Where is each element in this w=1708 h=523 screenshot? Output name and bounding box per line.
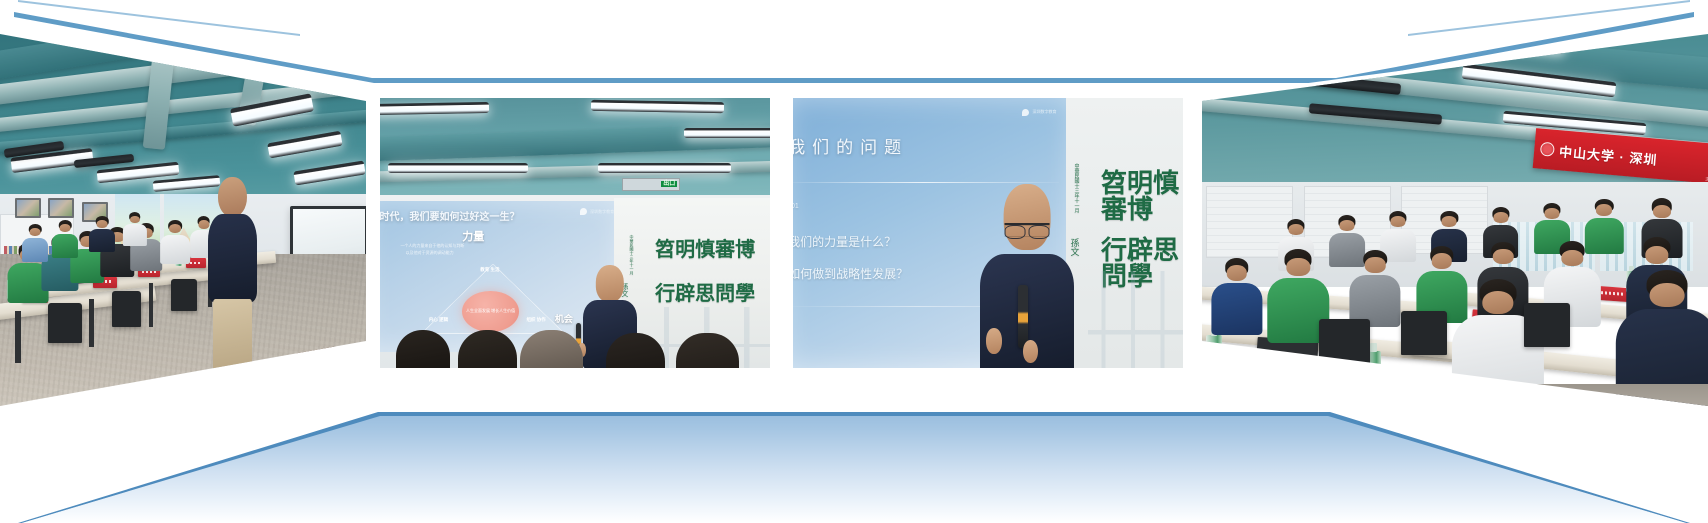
table-leg (15, 311, 21, 364)
torso (89, 229, 115, 252)
head (1544, 208, 1559, 219)
photo-frame-inner: 中山大学 · 深圳 企业家培训 主办单位：深圳 (1196, 12, 1708, 416)
chair (1524, 303, 1570, 347)
slide-question-2: 如何做到战略性发展？ (793, 265, 908, 282)
bullet-marker: 01 (793, 203, 799, 210)
university-seal-icon (1540, 142, 1555, 157)
slide-title: 的时代，我们要如何过好这一生？ (380, 208, 520, 223)
table-leg (149, 283, 153, 327)
head (1645, 246, 1668, 264)
photo-panel-classroom-wide[interactable] (0, 12, 372, 416)
slide-subnote: 一个人的力量来自于他的认知与判断 (400, 243, 464, 249)
gallery-banner: 出口 的时代，我们要如何过好这一生？ 深圳数字教育 力量 一个人的力量来自于他的… (0, 0, 1708, 523)
leaf-glyph (1022, 109, 1029, 116)
attendee (160, 222, 190, 264)
torso (123, 224, 147, 246)
wall-art (48, 198, 74, 218)
photo-frame-inner: 出口 的时代，我们要如何过好这一生？ 深圳数字教育 力量 一个人的力量来自于他的… (380, 98, 770, 368)
exit-sign-label: 出口 (661, 181, 677, 187)
head (1442, 216, 1457, 227)
head (1653, 205, 1671, 218)
chair (171, 279, 197, 311)
presenter-torso (208, 214, 256, 302)
ceiling-lamp (388, 163, 528, 173)
slide-heading: 力量 (462, 228, 484, 244)
ceiling-lamp (598, 163, 731, 173)
ceiling-lamp (684, 128, 770, 138)
head (1482, 291, 1513, 314)
top-accent-line-right-faint (0, 0, 1708, 40)
water-bottle (1206, 335, 1221, 367)
attendee (1211, 262, 1262, 335)
slide-subnote-2: 以及他对于资源的调动能力 (406, 250, 454, 256)
chair (112, 291, 142, 327)
head (1562, 250, 1583, 266)
speaker-head (1004, 184, 1051, 250)
scene-speaker: 深圳数字教育 我们的问题 01 我们的力量是什么？ 如何做到战略性发展？ 中華民… (793, 98, 1183, 368)
divider (793, 182, 1059, 183)
chair (1401, 311, 1447, 355)
presenter-shoes (211, 370, 254, 384)
torso (1211, 283, 1262, 335)
slide-logo-label: 深圳数字教育 (1032, 109, 1056, 115)
ceiling-lamp (1400, 18, 1565, 54)
attendee (22, 226, 48, 262)
head (1493, 212, 1508, 223)
chair (48, 303, 81, 343)
head (169, 224, 181, 233)
exit-sign: 出口 (622, 178, 681, 192)
calligraphy-line-2: 行辟思問學 (655, 283, 755, 303)
eyeglasses-icon (1005, 223, 1050, 237)
calligraphy-line-1: 笤明慎審博 (655, 239, 755, 259)
slide-question-1: 我们的力量是什么？ (793, 233, 896, 250)
photo-frame-inner (0, 12, 372, 416)
torso (52, 234, 78, 259)
head (30, 228, 41, 236)
ceiling-lamp (591, 100, 724, 114)
attendee (1350, 254, 1401, 327)
photo-panel-speaker-microphone[interactable]: 深圳数字教育 我们的问题 01 我们的力量是什么？ 如何做到战略性发展？ 中華民… (789, 94, 1187, 372)
chair (1319, 319, 1370, 367)
node-right-label: 组织 协作 (527, 317, 546, 323)
gate-watermark (1088, 271, 1183, 368)
presenter-head (218, 177, 246, 218)
leaf-logo-icon: 深圳数字教育 (1022, 109, 1056, 116)
hand-gesturing (986, 328, 1002, 353)
attendee (123, 214, 147, 246)
scene-lecture-slide: 出口 的时代，我们要如何过好这一生？ 深圳数字教育 力量 一个人的力量来自于他的… (380, 98, 770, 368)
head (1432, 253, 1452, 268)
event-banner-title: 中山大学 · 深圳 (1558, 141, 1658, 169)
photo-panel-audience-rows[interactable]: 中山大学 · 深圳 企业家培训 主办单位：深圳 (1196, 12, 1708, 416)
head (130, 216, 140, 223)
head (1596, 204, 1612, 216)
calligraphy-line-1: 笤明慎審博 (1101, 171, 1183, 223)
perspective-floor (0, 398, 1708, 523)
torso (160, 235, 190, 265)
microphone (1018, 285, 1028, 347)
leaf-glyph (580, 208, 587, 215)
head (1391, 216, 1406, 227)
calligraphy-panel: 中華民國十三年十一月 笤明慎審博 行辟思問學 孫文 (1066, 98, 1183, 368)
head (1365, 257, 1385, 272)
attendee (52, 222, 78, 258)
leaf-logo-icon: 深圳数字教育 (580, 208, 614, 215)
slide-logo-label: 深圳数字教育 (590, 209, 614, 215)
head (1288, 224, 1303, 235)
head (1339, 220, 1354, 231)
top-accent-line-left-faint (0, 0, 1708, 40)
scene-audience: 中山大学 · 深圳 企业家培训 主办单位：深圳 (1196, 12, 1708, 416)
torso (22, 238, 48, 263)
presenter (208, 214, 256, 384)
slide-label-right: 机会 (555, 312, 573, 325)
center-node: 人生全面发展 增长人生价值 (462, 291, 519, 332)
scene-classroom-wide (0, 12, 372, 416)
presenter-trousers (213, 299, 252, 370)
node-top-label: 教育 生活 (480, 267, 499, 273)
table-leg (89, 299, 94, 347)
head (60, 224, 71, 232)
nameplate (1226, 354, 1278, 378)
photo-panel-lecture-slide[interactable]: 出口 的时代，我们要如何过好这一生？ 深圳数字教育 力量 一个人的力量来自于他的… (376, 94, 774, 372)
photo-frame-inner: 深圳数字教育 我们的问题 01 我们的力量是什么？ 如何做到战略性发展？ 中華民… (793, 98, 1183, 368)
head (1227, 265, 1247, 280)
slide-title: 我们的问题 (793, 133, 908, 158)
head (1493, 249, 1513, 264)
speaker (980, 184, 1074, 368)
head (1650, 283, 1685, 308)
node-left-label: 内心 逻辑 (429, 317, 448, 323)
head (1287, 258, 1310, 276)
attendee (89, 218, 115, 252)
presenter-head (596, 265, 624, 302)
wall-art (15, 198, 41, 218)
calligraphy-side-note: 中華民國十三年十一月 (1073, 163, 1078, 213)
head (97, 220, 108, 228)
